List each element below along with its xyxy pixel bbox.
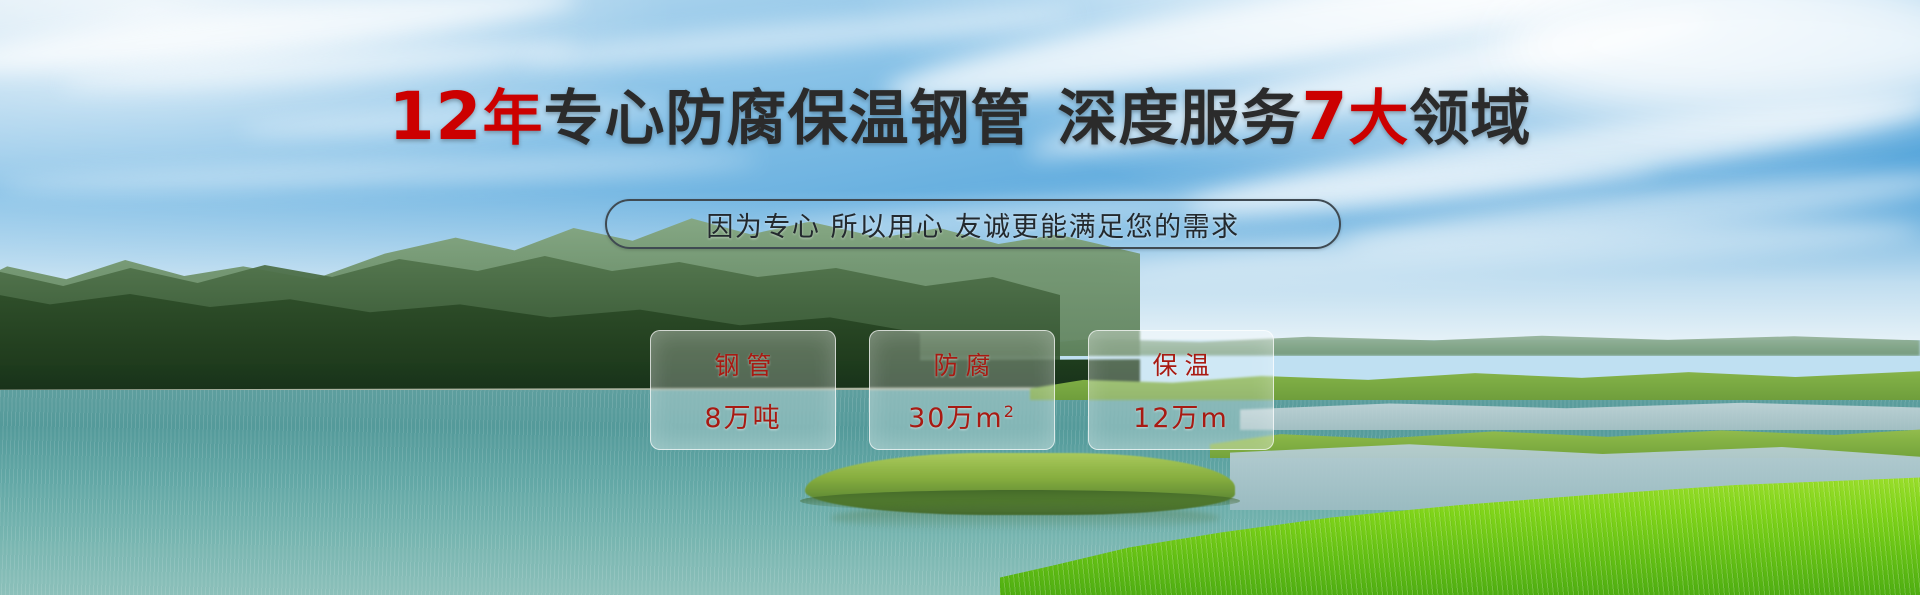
headline-fields-word: 领域: [1409, 84, 1531, 154]
headline-part-b: 深度服务: [1057, 84, 1301, 154]
stat-card-title: 保温: [1145, 346, 1216, 382]
headline-years-number: 12: [389, 78, 483, 155]
hero-banner: 12年专心防腐保温钢管深度服务7大领域 因为专心 所以用心 友诚更能满足您的需求…: [0, 0, 1920, 595]
stat-card-anticorrosion[interactable]: 防腐 30万m2: [869, 330, 1055, 450]
stat-card-value: 30万m2: [908, 396, 1016, 435]
subtitle-pill: 因为专心 所以用心 友诚更能满足您的需求: [605, 199, 1341, 249]
headline-fields-number: 7: [1301, 78, 1348, 155]
stat-card-steel-pipe[interactable]: 钢管 8万吨: [650, 330, 836, 450]
headline-fields-unit: 大: [1348, 84, 1409, 154]
stat-value-base: 12万m: [1133, 403, 1229, 434]
headline-part-a: 专心防腐保温钢管: [543, 84, 1031, 154]
stat-card-insulation[interactable]: 保温 12万m: [1088, 330, 1274, 450]
stat-card-group: 钢管 8万吨 防腐 30万m2 保温 12万m: [650, 330, 1274, 450]
subtitle-text: 因为专心 所以用心 友诚更能满足您的需求: [706, 205, 1239, 244]
stat-card-value: 8万吨: [704, 396, 781, 435]
island-reflection: [830, 505, 1220, 531]
stat-card-value: 12万m: [1133, 396, 1229, 435]
stat-value-base: 8万吨: [704, 403, 781, 434]
stat-card-title: 防腐: [926, 346, 997, 382]
stat-card-title: 钢管: [707, 346, 778, 382]
stat-value-superscript: 2: [1004, 402, 1016, 421]
stat-value-base: 30万m: [908, 403, 1004, 434]
banner-headline: 12年专心防腐保温钢管深度服务7大领域: [0, 84, 1920, 150]
headline-years-unit: 年: [482, 84, 543, 154]
